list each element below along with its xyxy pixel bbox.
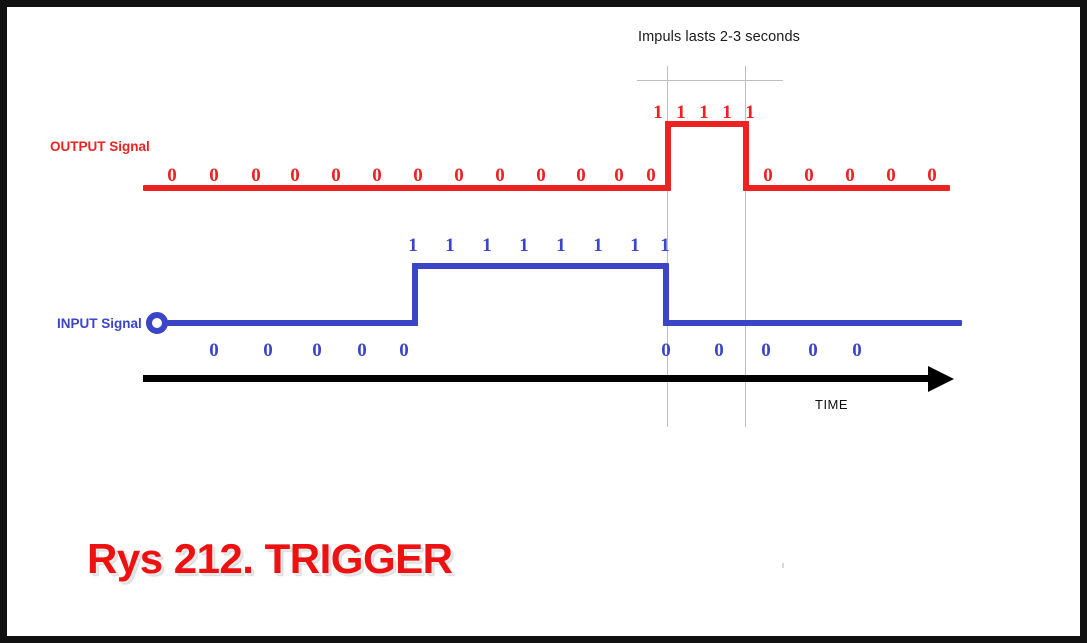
figure-frame: Impuls lasts 2-3 seconds OUTPUT Signal 0… [0, 0, 1087, 643]
input-digit: 1 [660, 236, 670, 255]
input-segment-low-left [163, 320, 418, 326]
output-digit: 0 [763, 166, 773, 185]
input-digit: 0 [661, 341, 671, 360]
input-digit: 1 [445, 236, 455, 255]
input-digit: 1 [482, 236, 492, 255]
input-digit: 0 [714, 341, 724, 360]
output-digit: 0 [536, 166, 546, 185]
output-digit: 1 [722, 103, 732, 122]
input-digit: 0 [357, 341, 367, 360]
input-digit: 1 [630, 236, 640, 255]
input-rising-edge [412, 263, 418, 326]
output-digit: 1 [653, 103, 663, 122]
input-digit: 0 [761, 341, 771, 360]
input-signal-label: INPUT Signal [57, 316, 142, 331]
input-digit: 0 [209, 341, 219, 360]
output-digit: 0 [927, 166, 937, 185]
output-digit: 0 [331, 166, 341, 185]
output-digit: 0 [167, 166, 177, 185]
impuls-caption: Impuls lasts 2-3 seconds [638, 29, 800, 45]
output-digit: 0 [290, 166, 300, 185]
output-digit: 1 [676, 103, 686, 122]
output-digit: 0 [614, 166, 624, 185]
output-digit: 0 [251, 166, 261, 185]
output-digit: 0 [646, 166, 656, 185]
input-digit: 0 [808, 341, 818, 360]
output-digit: 0 [372, 166, 382, 185]
output-segment-low-left [143, 185, 671, 191]
input-digit: 0 [263, 341, 273, 360]
guide-line-horizontal [637, 80, 783, 81]
figure-canvas: Impuls lasts 2-3 seconds OUTPUT Signal 0… [7, 7, 1080, 636]
output-digit: 0 [845, 166, 855, 185]
input-digit: 1 [593, 236, 603, 255]
input-falling-edge [663, 263, 669, 326]
output-falling-edge [743, 121, 749, 191]
output-rising-edge [665, 121, 671, 191]
time-axis-arrow-icon [928, 366, 954, 392]
input-digit: 1 [408, 236, 418, 255]
input-segment-low-right [663, 320, 962, 326]
output-digit: 0 [804, 166, 814, 185]
output-digit: 0 [454, 166, 464, 185]
output-digit: 1 [699, 103, 709, 122]
output-signal-label: OUTPUT Signal [50, 139, 150, 154]
input-digit: 0 [852, 341, 862, 360]
input-digit: 1 [519, 236, 529, 255]
output-digit: 0 [886, 166, 896, 185]
output-digit: 0 [576, 166, 586, 185]
input-digit: 0 [312, 341, 322, 360]
output-digit: 0 [495, 166, 505, 185]
figure-title: Rys 212. TRIGGER [87, 535, 452, 583]
input-segment-high [412, 263, 667, 269]
input-digit: 0 [399, 341, 409, 360]
output-digit: 1 [745, 103, 755, 122]
input-digit: 1 [556, 236, 566, 255]
output-digit: 0 [209, 166, 219, 185]
stray-speck [782, 563, 784, 568]
time-axis-label: TIME [815, 397, 848, 412]
output-digit: 0 [413, 166, 423, 185]
time-axis-line [143, 375, 933, 382]
